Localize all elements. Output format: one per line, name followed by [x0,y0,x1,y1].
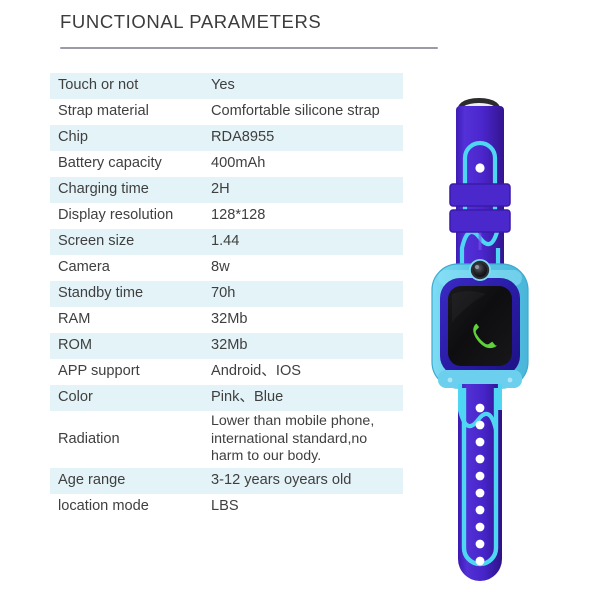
table-row: APP supportAndroid、IOS [50,359,403,385]
spec-label: Camera [50,255,211,281]
spec-label: Radiation [50,411,211,468]
table-row: ROM32Mb [50,333,403,359]
spec-value: 400mAh [211,151,403,177]
table-row: Camera8w [50,255,403,281]
spec-label: Charging time [50,177,211,203]
spec-label: Battery capacity [50,151,211,177]
spec-value: LBS [211,494,403,520]
spec-value: 3-12 years oyears old [211,468,403,494]
kids-smart-watch-image [424,88,596,593]
spec-value: RDA8955 [211,125,403,151]
table-row: RAM32Mb [50,307,403,333]
product-spec-page: FUNCTIONAL PARAMETERS Touch or notYesStr… [0,0,600,600]
spec-label: Strap material [50,99,211,125]
table-row: location modeLBS [50,494,403,520]
spec-label: Chip [50,125,211,151]
strap-hole [475,163,484,172]
watch-camera-lens [469,259,491,281]
spec-value: 1.44 [211,229,403,255]
table-row: Touch or notYes [50,73,403,99]
table-row: Screen size1.44 [50,229,403,255]
spec-label: Display resolution [50,203,211,229]
spec-value: 2H [211,177,403,203]
table-row: Display resolution128*128 [50,203,403,229]
table-row: ChipRDA8955 [50,125,403,151]
table-row: Strap materialComfortable silicone strap [50,99,403,125]
table-row: RadiationLower than mobile phone, intern… [50,411,403,468]
table-row: Battery capacity400mAh [50,151,403,177]
spec-value: Android、IOS [211,359,403,385]
spec-value: Pink、Blue [211,385,403,411]
watch-strap-upper [450,106,510,278]
spec-value: 32Mb [211,307,403,333]
table-row: Age range3-12 years oyears old [50,468,403,494]
table-row: Charging time2H [50,177,403,203]
spec-label: RAM [50,307,211,333]
spec-label: Color [50,385,211,411]
watch-case [432,259,528,388]
functional-parameters-table: Touch or notYesStrap materialComfortable… [50,73,403,520]
title-divider [60,47,438,49]
table-row: ColorPink、Blue [50,385,403,411]
spec-label: Age range [50,468,211,494]
spec-value: 32Mb [211,333,403,359]
table-row: Standby time70h [50,281,403,307]
spec-value: 128*128 [211,203,403,229]
spec-label: Screen size [50,229,211,255]
watch-strap-lower [458,384,502,581]
page-title: FUNCTIONAL PARAMETERS [60,11,321,33]
spec-label: Standby time [50,281,211,307]
spec-label: APP support [50,359,211,385]
spec-value: Comfortable silicone strap [211,99,403,125]
spec-label: ROM [50,333,211,359]
spec-value: Lower than mobile phone, international s… [211,411,403,468]
spec-value: 70h [211,281,403,307]
spec-label: Touch or not [50,73,211,99]
spec-label: location mode [50,494,211,520]
spec-value: 8w [211,255,403,281]
spec-value: Yes [211,73,403,99]
